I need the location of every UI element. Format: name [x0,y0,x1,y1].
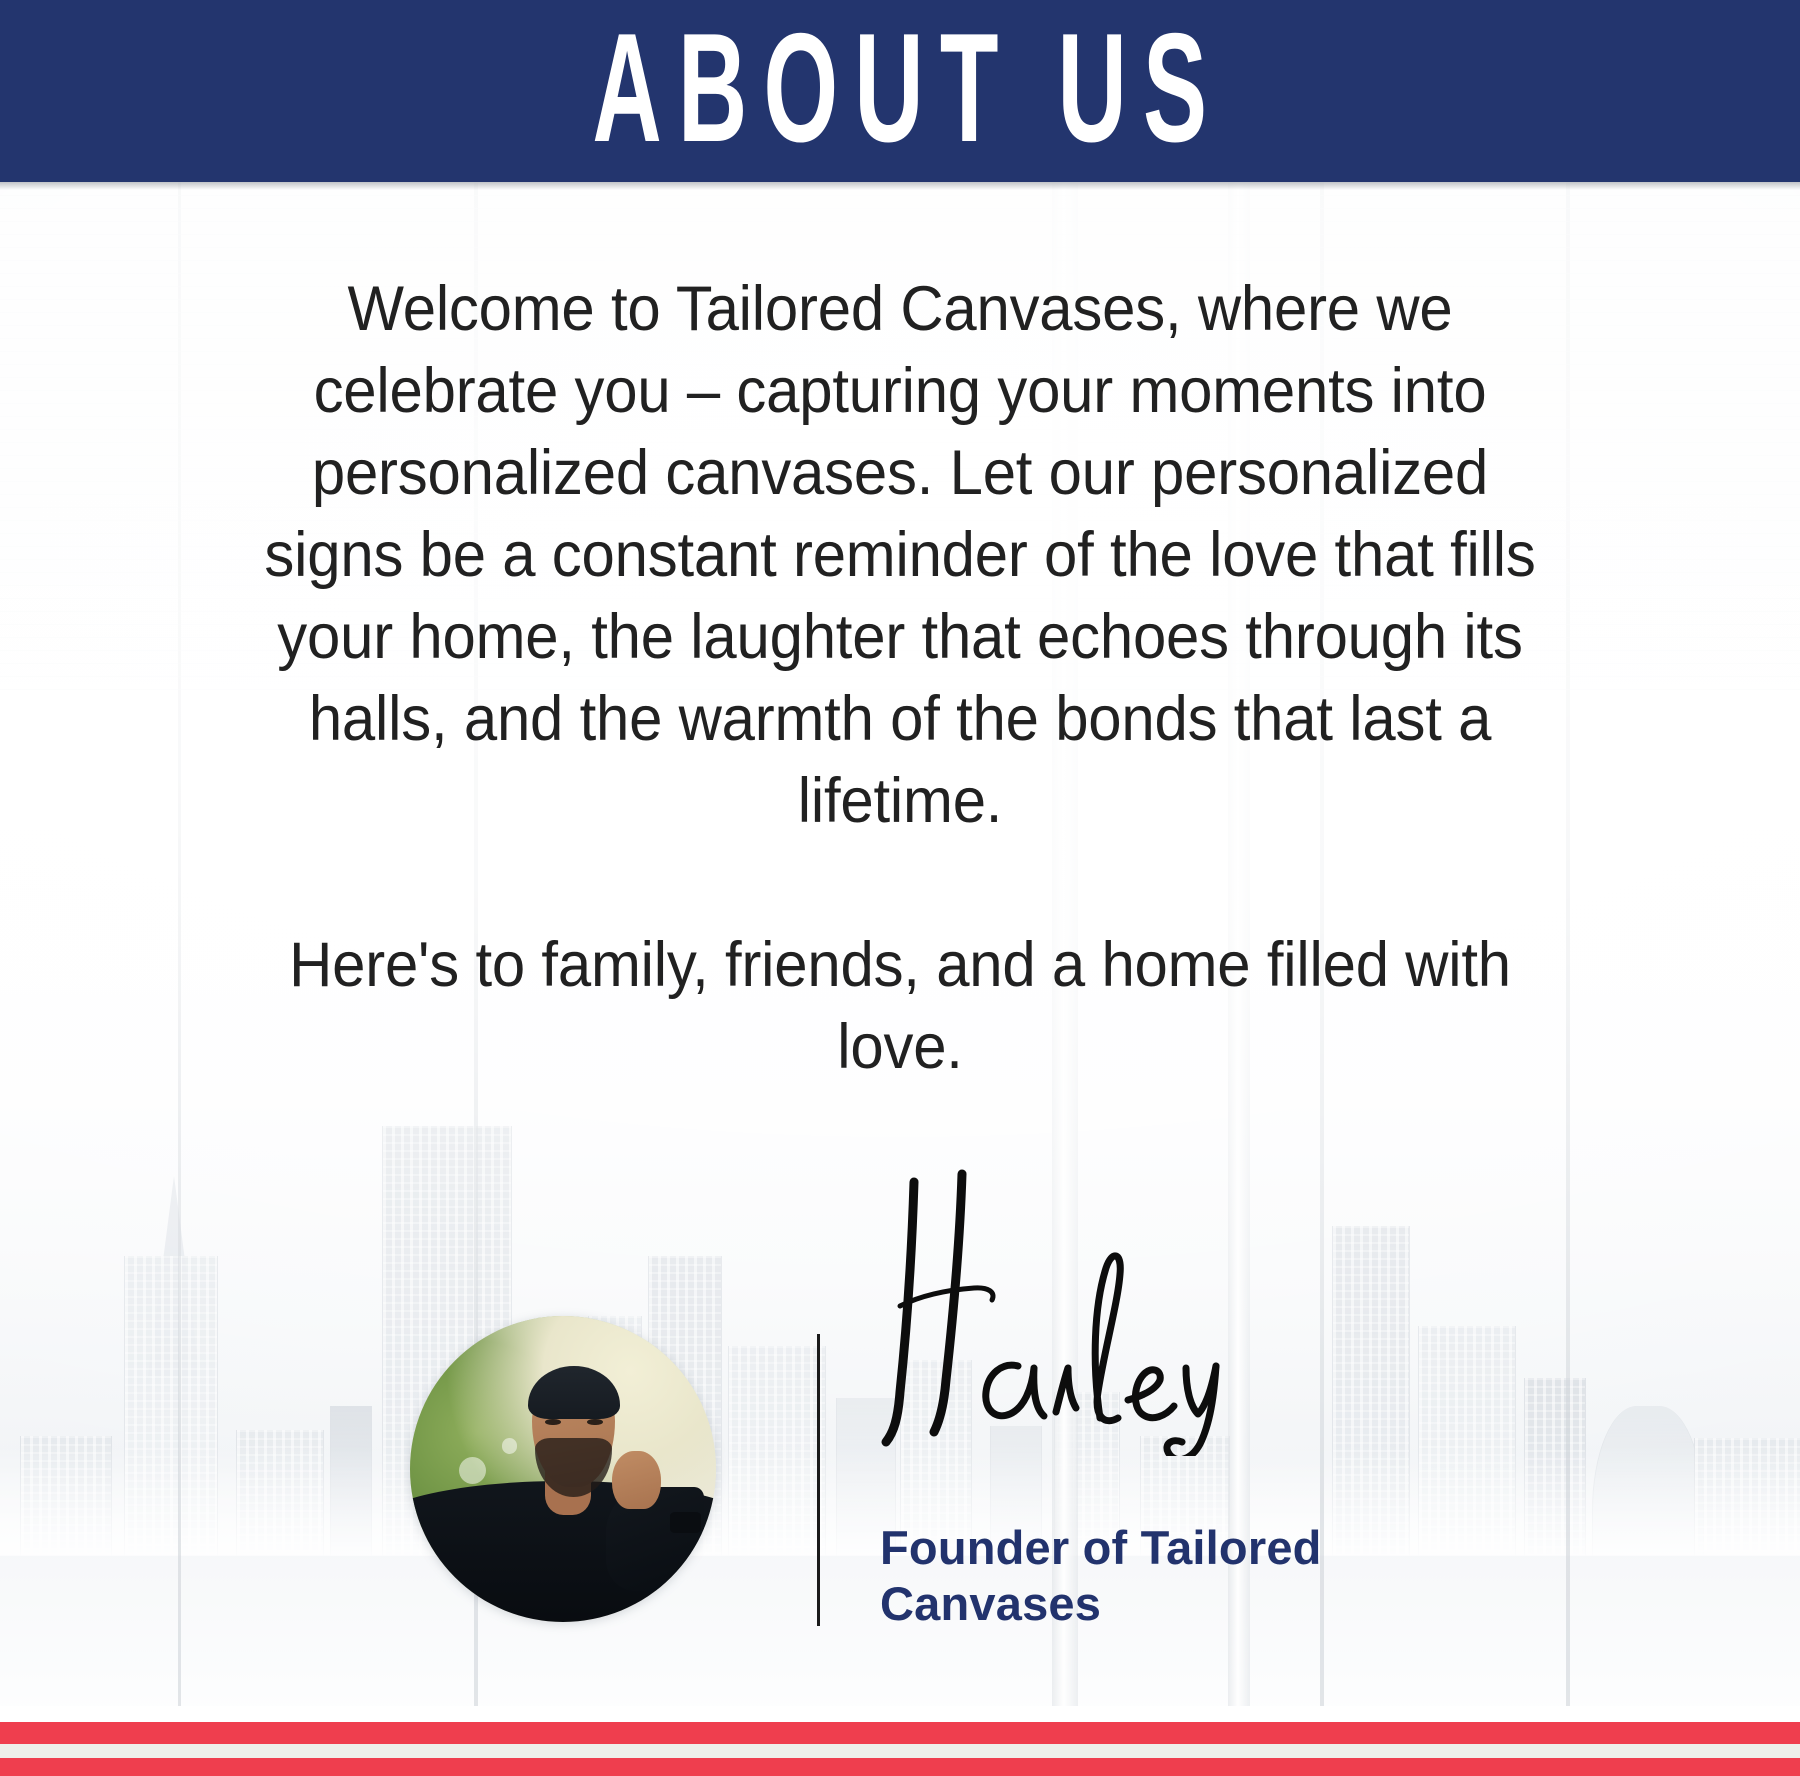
footer-bar-bottom [0,1758,1800,1776]
page-title: ABOUT US [577,10,1224,165]
signature-divider [817,1334,820,1626]
founder-title: Founder of Tailored Canvases [880,1520,1500,1632]
avatar-hand [612,1451,661,1509]
header-drop-shadow [0,182,1800,190]
paragraph-2: Here's to family, friends, and a home fi… [235,924,1565,1088]
footer-bar-gap [0,1744,1800,1758]
about-us-body-copy: Welcome to Tailored Canvases, where we c… [235,268,1565,1088]
footer-bar-top [0,1722,1800,1744]
avatar-eye-left [545,1419,561,1426]
founder-title-line-2: Canvases [880,1576,1500,1632]
header-bar: ABOUT US [0,0,1800,182]
founder-title-line-1: Founder of Tailored [880,1520,1500,1576]
about-us-graphic: ABOUT US Welcome to Tailored Canvases, w… [0,0,1800,1776]
paragraph-spacer [235,842,1565,924]
paragraph-1: Welcome to Tailored Canvases, where we c… [235,268,1565,842]
avatar-watch [670,1512,701,1533]
avatar [410,1316,716,1622]
